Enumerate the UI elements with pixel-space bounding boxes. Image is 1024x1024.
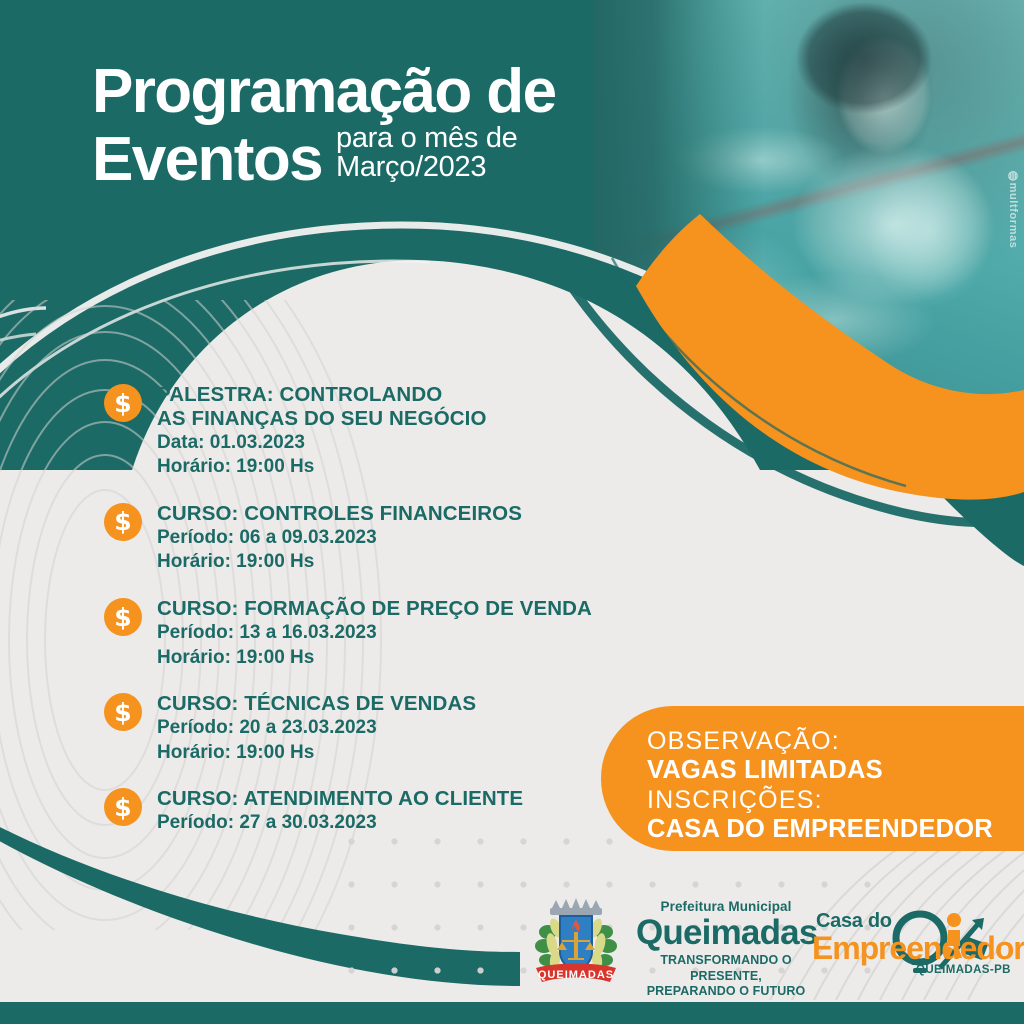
list-item: $ CURSO: ATENDIMENTO AO CLIENTE Período:… — [104, 786, 664, 835]
dollar-coin-icon: $ — [104, 788, 142, 826]
event-date: Período: 13 a 16.03.2023 — [157, 621, 592, 646]
dollar-glyph: $ — [104, 598, 142, 636]
subtitle-line-2: Março/2023 — [336, 153, 518, 183]
watermark-mark-icon: ◍ — [1006, 168, 1020, 183]
inscriptions-label: INSCRIÇÕES: — [647, 786, 1024, 815]
dollar-coin-icon: $ — [104, 598, 142, 636]
event-title: CURSO: FORMAÇÃO DE PREÇO DE VENDA — [157, 597, 592, 621]
prefecture-tagline: TRANSFORMANDO O PRESENTE, PREPARANDO O F… — [636, 953, 816, 1000]
dollar-coin-icon: $ — [104, 693, 142, 731]
dollar-glyph: $ — [104, 693, 142, 731]
event-date: Data: 01.03.2023 — [157, 431, 487, 456]
event-date: Período: 20 a 23.03.2023 — [157, 716, 476, 741]
queimadas-coat-of-arms-icon: QUEIMADAS — [528, 894, 624, 986]
event-title: PALESTRA: CONTROLANDO AS FINANÇAS DO SEU… — [157, 383, 487, 431]
observation-label: OBSERVAÇÃO: — [647, 727, 1024, 756]
page-title: Programação de Eventos para o mês de Mar… — [92, 62, 555, 190]
title-line-2: Eventos — [92, 130, 322, 190]
events-list: $ PALESTRA: CONTROLANDO AS FINANÇAS DO S… — [104, 382, 664, 857]
subtitle-line-1: para o mês de — [336, 124, 518, 154]
event-time: Horário: 19:00 Hs — [157, 455, 487, 480]
casa-line-2: Empreendedor — [812, 930, 1024, 967]
event-time: Horário: 19:00 Hs — [157, 646, 592, 671]
footer-logos: QUEIMADAS Prefeitura Municipal Queimadas… — [0, 890, 1024, 990]
list-item: $ CURSO: CONTROLES FINANCEIROS Período: … — [104, 501, 664, 575]
dollar-glyph: $ — [104, 788, 142, 826]
event-date: Período: 06 a 09.03.2023 — [157, 526, 522, 551]
dollar-coin-icon: $ — [104, 503, 142, 541]
prefecture-name: Queimadas — [636, 915, 816, 951]
dollar-glyph: $ — [104, 384, 142, 422]
poster-canvas: Programação de Eventos para o mês de Mar… — [0, 0, 1024, 1024]
casa-do-empreendedor-logo: Casa do Empreendedor QUEIMADAS-PB — [812, 898, 1012, 984]
event-title: CURSO: ATENDIMENTO AO CLIENTE — [157, 787, 523, 811]
bottom-teal-bar — [0, 1002, 1024, 1024]
event-title: CURSO: TÉCNICAS DE VENDAS — [157, 692, 476, 716]
list-item: $ CURSO: FORMAÇÃO DE PREÇO DE VENDA Perí… — [104, 596, 664, 670]
event-time: Horário: 19:00 Hs — [157, 550, 522, 575]
observation-value: VAGAS LIMITADAS — [647, 756, 1024, 786]
casa-city-label: QUEIMADAS-PB — [916, 964, 1011, 976]
list-item: $ PALESTRA: CONTROLANDO AS FINANÇAS DO S… — [104, 382, 664, 480]
dollar-coin-icon: $ — [104, 384, 142, 422]
observation-callout: OBSERVAÇÃO: VAGAS LIMITADAS INSCRIÇÕES: … — [601, 706, 1024, 851]
event-date: Período: 27 a 30.03.2023 — [157, 811, 523, 836]
watermark-text: multformas — [1007, 183, 1019, 249]
event-title: CURSO: CONTROLES FINANCEIROS — [157, 502, 522, 526]
title-subtitle: para o mês de Março/2023 — [336, 124, 518, 183]
event-time: Horário: 19:00 Hs — [157, 741, 476, 766]
title-line-1: Programação de — [92, 62, 555, 122]
watermark-label: ◍multformas — [1006, 168, 1020, 249]
prefecture-logo: Prefeitura Municipal Queimadas TRANSFORM… — [636, 900, 816, 1000]
inscriptions-value: CASA DO EMPREENDEDOR — [647, 815, 1024, 845]
list-item: $ CURSO: TÉCNICAS DE VENDAS Período: 20 … — [104, 691, 664, 765]
coat-of-arms-ribbon-text: QUEIMADAS — [538, 969, 614, 981]
prefecture-pre-label: Prefeitura Municipal — [636, 900, 816, 914]
dollar-glyph: $ — [104, 503, 142, 541]
